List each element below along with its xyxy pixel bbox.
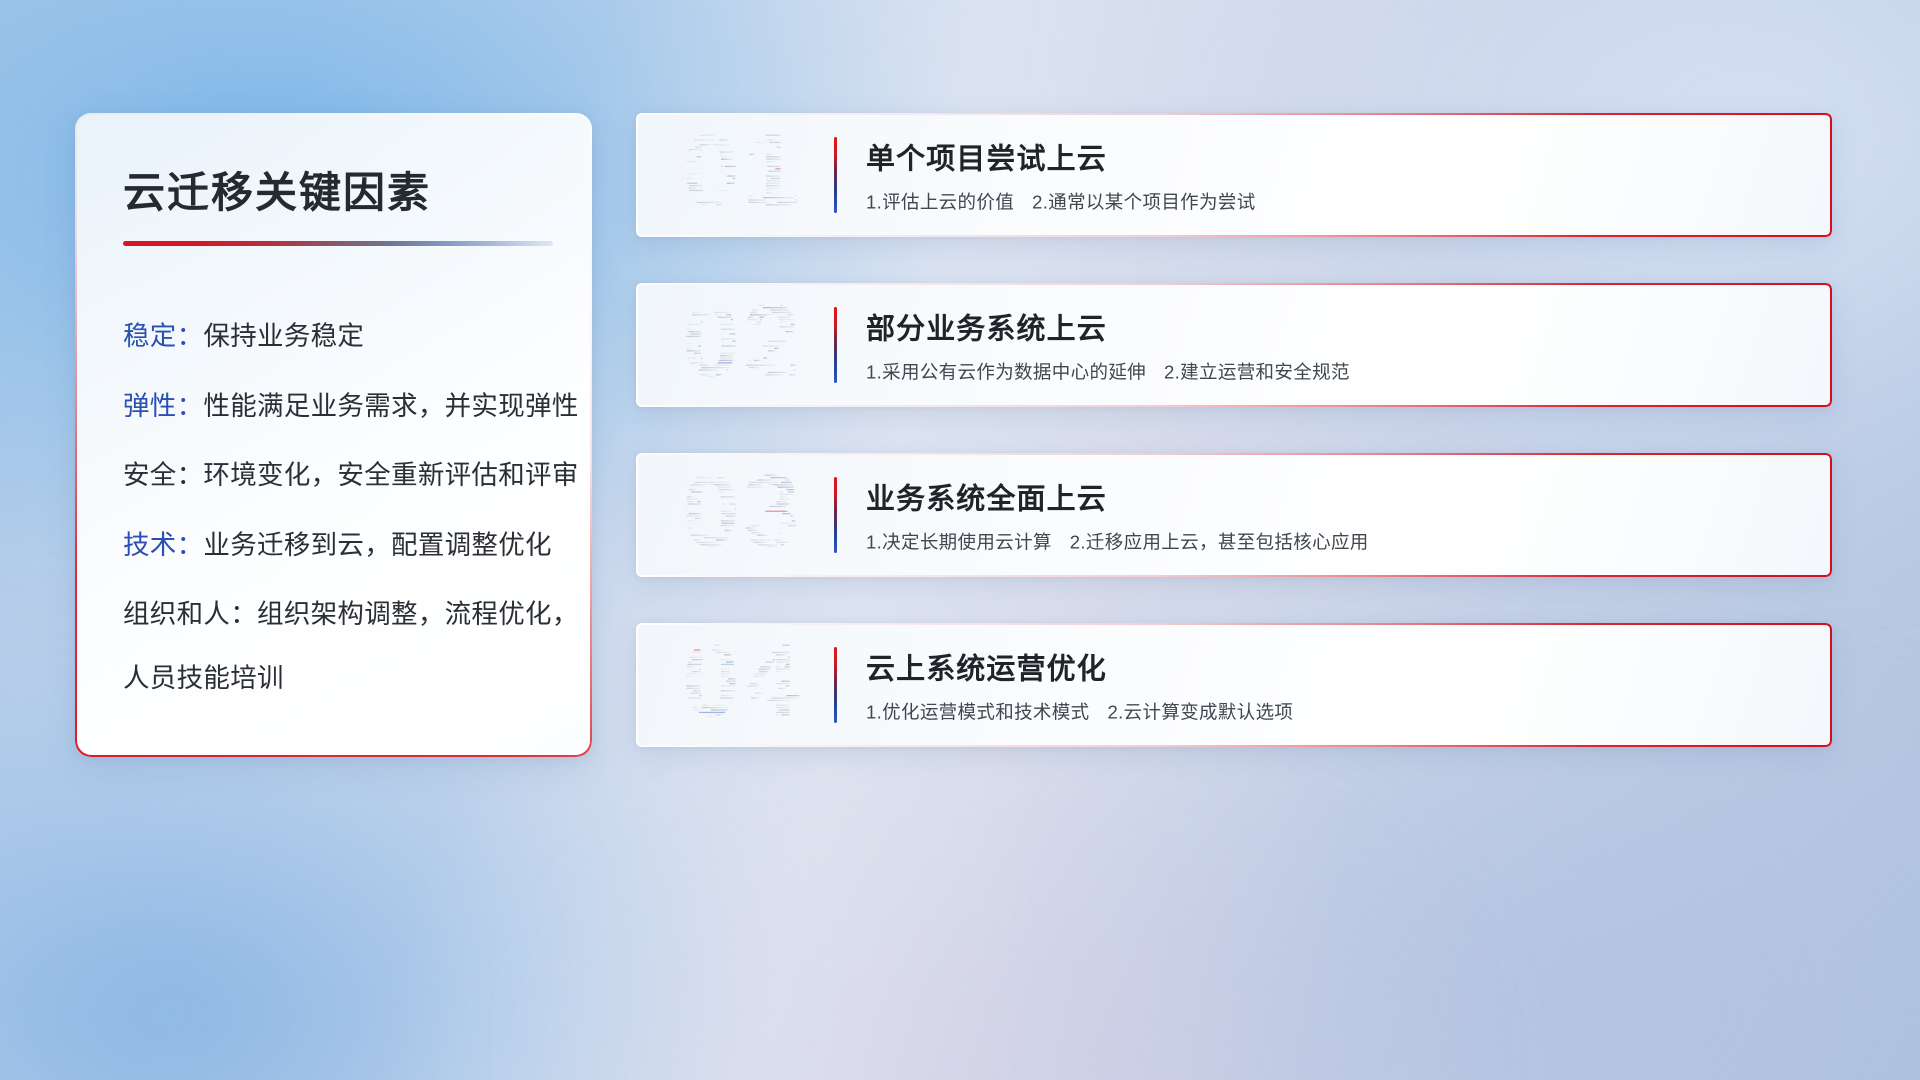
migration-stage-card[interactable]: 01单个项目尝试上云1.评估上云的价值2.通常以某个项目作为尝试	[636, 113, 1832, 237]
page-title: 云迁移关键因素	[115, 159, 552, 220]
factor-row: 安全：环境变化，安全重新评估和评审	[123, 457, 552, 494]
factor-list: 稳定：保持业务稳定弹性：性能满足业务需求，并实现弹性安全：环境变化，安全重新评估…	[115, 318, 552, 696]
description-item: 1.采用公有云作为数据中心的延伸	[866, 362, 1146, 383]
accent-divider-bar	[834, 477, 837, 553]
card-description: 1.优化运营模式和技术模式2.云计算变成默认选项	[866, 699, 1293, 725]
description-item: 2.建立运营和安全规范	[1164, 362, 1350, 383]
card-title: 云上系统运营优化	[866, 646, 1293, 688]
card-title: 部分业务系统上云	[866, 306, 1350, 348]
card-description: 1.评估上云的价值2.通常以某个项目作为尝试	[866, 189, 1256, 215]
factor-row: 组织和人：组织架构调整，流程优化，	[123, 596, 552, 633]
description-item: 1.优化运营模式和技术模式	[866, 702, 1089, 723]
card-title: 业务系统全面上云	[866, 476, 1369, 518]
factor-separator: ：	[177, 460, 204, 490]
accent-divider-bar	[834, 647, 837, 723]
accent-divider-bar	[834, 137, 837, 213]
stage-number-glyph: 02	[662, 293, 822, 397]
card-title: 单个项目尝试上云	[866, 136, 1256, 178]
card-body: 单个项目尝试上云1.评估上云的价值2.通常以某个项目作为尝试	[866, 136, 1256, 215]
factor-separator: ：	[177, 530, 204, 560]
stage-number-glyph: 01	[662, 123, 822, 227]
accent-divider-bar	[834, 307, 837, 383]
migration-stage-card-list: 01单个项目尝试上云1.评估上云的价值2.通常以某个项目作为尝试02部分业务系统…	[636, 113, 1832, 747]
stage-number-glyph: 04	[662, 633, 822, 737]
title-underline-rule	[123, 241, 553, 246]
card-body: 业务系统全面上云1.决定长期使用云计算2.迁移应用上云，甚至包括核心应用	[866, 476, 1369, 555]
factor-text: 业务迁移到云，配置调整优化	[203, 530, 551, 560]
factor-text: 性能满足业务需求，并实现弹性	[203, 391, 578, 421]
migration-stage-card[interactable]: 04云上系统运营优化1.优化运营模式和技术模式2.云计算变成默认选项	[636, 623, 1832, 747]
description-item: 1.决定长期使用云计算	[866, 532, 1052, 553]
factor-continuation-text: 人员技能培训	[123, 660, 552, 697]
card-description: 1.决定长期使用云计算2.迁移应用上云，甚至包括核心应用	[866, 529, 1369, 555]
migration-stage-card[interactable]: 03业务系统全面上云1.决定长期使用云计算2.迁移应用上云，甚至包括核心应用	[636, 453, 1832, 577]
card-body: 云上系统运营优化1.优化运营模式和技术模式2.云计算变成默认选项	[866, 646, 1293, 725]
description-item: 1.评估上云的价值	[866, 192, 1014, 213]
card-description: 1.采用公有云作为数据中心的延伸2.建立运营和安全规范	[866, 359, 1350, 385]
stage-number-glyph: 03	[662, 463, 822, 567]
factor-separator: ：	[177, 321, 204, 351]
key-factors-panel: 云迁移关键因素 稳定：保持业务稳定弹性：性能满足业务需求，并实现弹性安全：环境变…	[75, 113, 592, 757]
factor-row: 稳定：保持业务稳定	[123, 318, 552, 355]
factor-text: 环境变化，安全重新评估和评审	[203, 460, 578, 490]
factor-row: 弹性：性能满足业务需求，并实现弹性	[123, 388, 552, 425]
description-item: 2.云计算变成默认选项	[1107, 702, 1293, 723]
factor-label: 安全	[123, 460, 177, 490]
factor-separator: ：	[177, 391, 204, 421]
factor-separator: ：	[230, 599, 257, 629]
factor-label: 组织和人	[123, 599, 230, 629]
factor-label: 稳定	[123, 321, 177, 351]
factor-label: 技术	[123, 530, 177, 560]
factor-label: 弹性	[123, 391, 177, 421]
factor-text: 组织架构调整，流程优化，	[257, 599, 579, 629]
factor-row: 技术：业务迁移到云，配置调整优化	[123, 527, 552, 564]
migration-stage-card[interactable]: 02部分业务系统上云1.采用公有云作为数据中心的延伸2.建立运营和安全规范	[636, 283, 1832, 407]
description-item: 2.通常以某个项目作为尝试	[1032, 192, 1255, 213]
factor-text: 保持业务稳定	[203, 321, 364, 351]
description-item: 2.迁移应用上云，甚至包括核心应用	[1070, 532, 1369, 553]
card-body: 部分业务系统上云1.采用公有云作为数据中心的延伸2.建立运营和安全规范	[866, 306, 1350, 385]
